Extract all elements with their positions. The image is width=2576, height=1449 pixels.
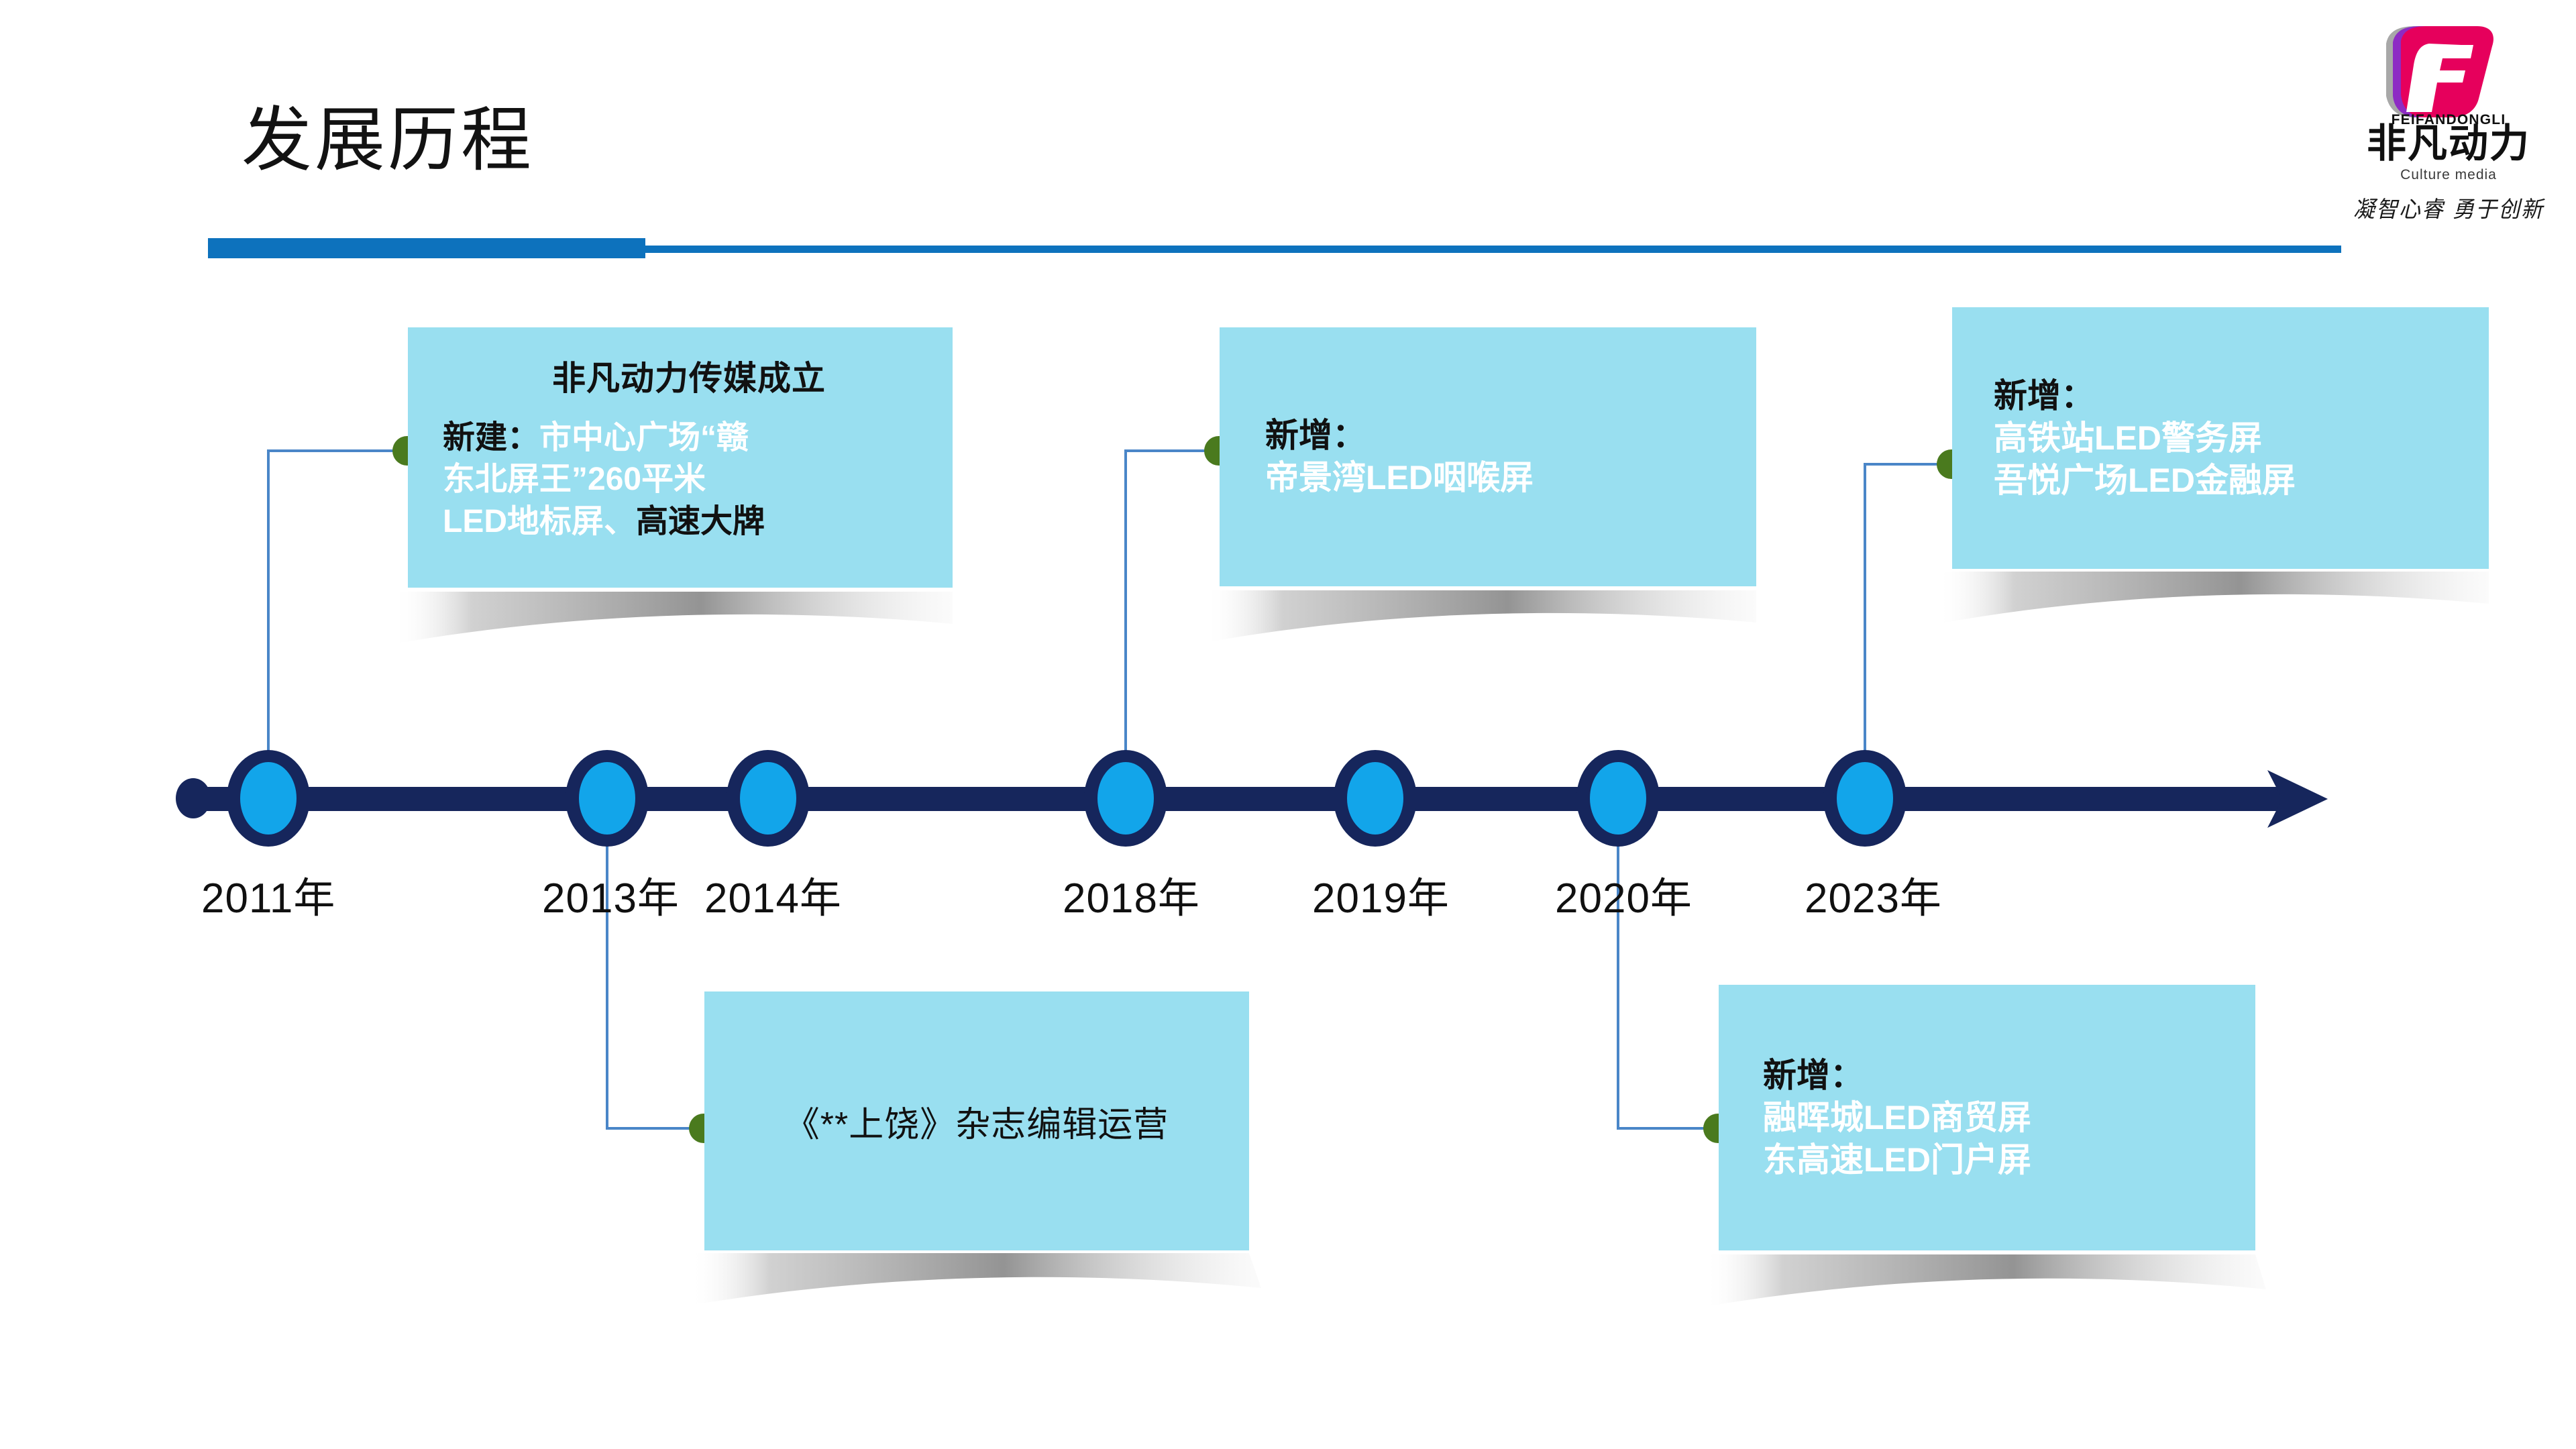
connector-2018 <box>1126 451 1218 800</box>
milestone-card-2014[interactable]: 《**上饶》杂志编辑运营 <box>704 991 1249 1250</box>
milestone-card-2023[interactable]: 新增： 高铁站LED警务屏 吾悦广场LED金融屏 <box>1952 307 2489 569</box>
milestone-card-2020[interactable]: 新增： 融晖城LED商贸屏 东高速LED门户屏 <box>1719 985 2255 1250</box>
card-2020-line-2: 东高速LED门户屏 <box>1763 1141 2031 1179</box>
card-shadow-2018 <box>1205 590 1756 643</box>
milestone-dot-2019 <box>1334 750 1417 847</box>
milestone-dot-2018 <box>1084 750 1167 847</box>
card-2011-title: 非凡动力传媒成立 <box>443 352 935 400</box>
milestone-card-2011[interactable]: 非凡动力传媒成立 新建：市中心广场“赣 东北屏王”260平米 LED地标屏、高速… <box>408 327 953 588</box>
card-2023-line-1: 高铁站LED警务屏 <box>1994 419 2262 457</box>
card-2011-highlight-1: 市中心广场“赣 <box>539 420 749 455</box>
card-2018-line-1: 帝景湾LED咽喉屏 <box>1265 459 1534 496</box>
card-2020-line-1: 融晖城LED商贸屏 <box>1763 1099 2031 1136</box>
card-2011-highlight-3: LED地标屏、 <box>443 504 636 539</box>
milestone-dots <box>227 750 1907 847</box>
timeline-arrow <box>176 770 2328 828</box>
year-label-2014: 2014年 <box>704 864 842 924</box>
card-2020-label: 新增： <box>1763 1057 1864 1094</box>
card-2011-tail: 高速大牌 <box>636 504 765 539</box>
milestone-dot-2020 <box>1576 750 1660 847</box>
card-2018-label: 新增： <box>1265 417 1366 454</box>
card-2014-text: 《**上饶》杂志编辑运营 <box>718 1096 1236 1146</box>
timeline-arrowhead <box>2267 770 2328 828</box>
card-2023-line-2: 吾悦广场LED金融屏 <box>1994 462 2296 499</box>
year-label-2023: 2023年 <box>1805 864 1942 924</box>
card-shadow-2011 <box>393 592 953 644</box>
timeline-line <box>193 787 2298 811</box>
milestone-dot-2014 <box>727 750 810 847</box>
milestone-dot-2011 <box>227 750 310 847</box>
card-shadow-2023 <box>1937 572 2489 624</box>
year-label-2013: 2013年 <box>542 864 680 924</box>
year-label-2018: 2018年 <box>1063 864 1200 924</box>
slide-canvas: 发展历程 FEIFANDONGLI 非凡动力 Culture media 凝智心… <box>0 0 2576 1449</box>
card-2023-label: 新增： <box>1994 377 2094 415</box>
year-label-2011: 2011年 <box>201 864 335 924</box>
connector-2020 <box>1618 800 1717 1128</box>
timeline-start-cap <box>176 778 211 818</box>
year-label-2019: 2019年 <box>1312 864 1450 924</box>
page-title: 发展历程 <box>241 101 534 182</box>
connector-2023 <box>1865 464 1950 800</box>
card-2011-label: 新建： <box>443 420 539 455</box>
card-2018-body: 新增： 帝景湾LED咽喉屏 <box>1265 415 1739 499</box>
milestone-card-2018[interactable]: 新增： 帝景湾LED咽喉屏 <box>1220 327 1756 586</box>
logo-f-mark-icon <box>2371 23 2499 121</box>
card-2011-highlight-2: 东北屏王”260平米 <box>443 462 706 497</box>
card-shadow-2020 <box>1704 1254 2266 1307</box>
milestone-dot-2023 <box>1823 750 1907 847</box>
card-2011-body: 新建：市中心广场“赣 东北屏王”260平米 LED地标屏、高速大牌 <box>443 417 935 543</box>
card-2020-body: 新增： 融晖城LED商贸屏 东高速LED门户屏 <box>1763 1055 2238 1181</box>
connector-2013 <box>607 800 702 1128</box>
title-underline-thin <box>208 246 2341 253</box>
company-logo: FEIFANDONGLI 非凡动力 Culture media 凝智心睿 勇于创… <box>2348 23 2549 225</box>
logo-tagline: 凝智心睿 勇于创新 <box>2348 192 2549 224</box>
connector-2011 <box>268 451 406 800</box>
logo-chinese-name: 非凡动力 <box>2348 124 2549 164</box>
card-shadow-2014 <box>690 1253 1261 1305</box>
logo-subtitle: Culture media <box>2348 167 2549 183</box>
milestone-dot-2013 <box>566 750 649 847</box>
card-2023-body: 新增： 高铁站LED警务屏 吾悦广场LED金融屏 <box>1994 375 2471 502</box>
year-label-2020: 2020年 <box>1555 864 1693 924</box>
